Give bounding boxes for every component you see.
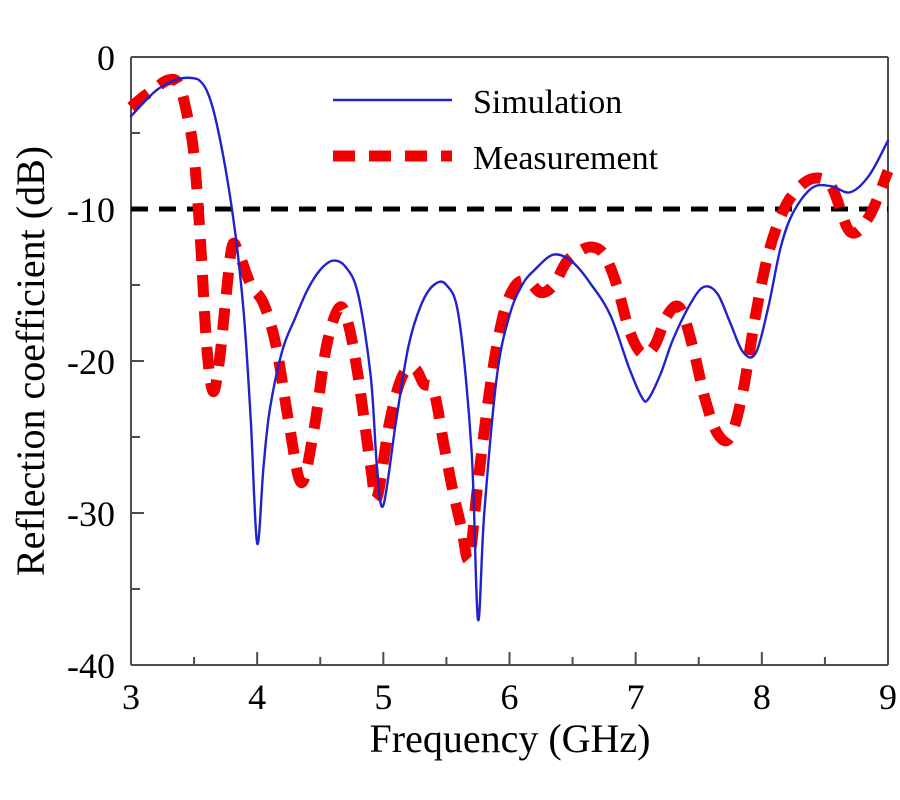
x-axis-tick-labels: 3456789 xyxy=(122,677,897,717)
chart-legend: Simulation Measurement xyxy=(333,84,659,177)
reflection-coefficient-chart: 3456789 0-10-20-30-40 Frequency (GHz) Re… xyxy=(0,0,900,800)
x-axis-title: Frequency (GHz) xyxy=(370,716,651,761)
y-tick-label: -40 xyxy=(67,646,115,686)
y-tick-label: -20 xyxy=(67,342,115,382)
x-tick-label: 4 xyxy=(248,677,266,717)
y-tick-label: 0 xyxy=(97,38,115,78)
legend-label-measurement: Measurement xyxy=(473,140,659,177)
x-tick-label: 5 xyxy=(374,677,392,717)
legend-label-simulation: Simulation xyxy=(473,84,622,121)
x-tick-label: 6 xyxy=(501,677,519,717)
x-tick-label: 9 xyxy=(879,677,897,717)
chart-canvas: 3456789 0-10-20-30-40 Frequency (GHz) Re… xyxy=(0,0,900,800)
x-axis-ticks xyxy=(131,652,888,665)
y-axis-title: Reflection coefficient (dB) xyxy=(8,146,53,576)
x-tick-label: 8 xyxy=(753,677,771,717)
x-tick-label: 3 xyxy=(122,677,140,717)
y-axis-tick-labels: 0-10-20-30-40 xyxy=(67,38,115,686)
y-axis-ticks xyxy=(131,133,144,589)
y-tick-label: -30 xyxy=(67,494,115,534)
y-tick-label: -10 xyxy=(67,190,115,230)
x-tick-label: 7 xyxy=(627,677,645,717)
